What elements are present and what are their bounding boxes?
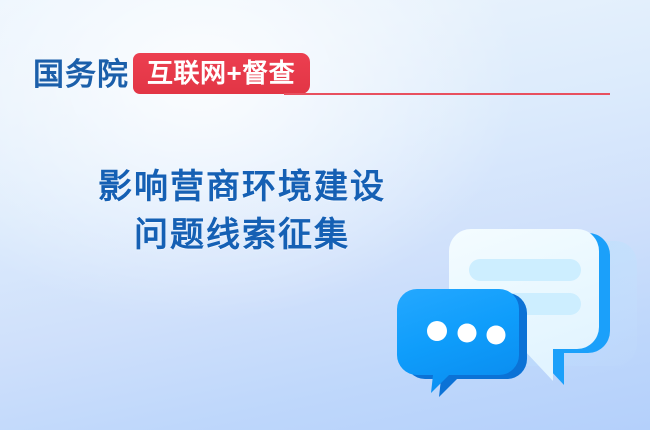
typing-dot-2 [458,324,477,343]
page-title-line-1: 影响营商环境建设 [42,163,442,211]
promo-banner: 国务院 互联网+督查 影响营商环境建设 问题线索征集 [0,0,650,430]
page-title-line-2: 问题线索征集 [42,211,442,259]
front-speech-bubble [397,289,527,397]
gov-council-label: 国务院 [33,52,129,98]
internet-plus-supervision-badge: 互联网+督查 [133,53,310,94]
banner-header: 国务院 互联网+督查 [0,52,650,98]
typing-dot-3 [487,326,506,345]
bubble-text-bar-1 [469,259,581,281]
header-divider-line [284,93,610,95]
page-title: 影响营商环境建设 问题线索征集 [42,163,442,259]
typing-dot-1 [427,321,447,341]
speech-bubbles-illustration [395,205,640,405]
